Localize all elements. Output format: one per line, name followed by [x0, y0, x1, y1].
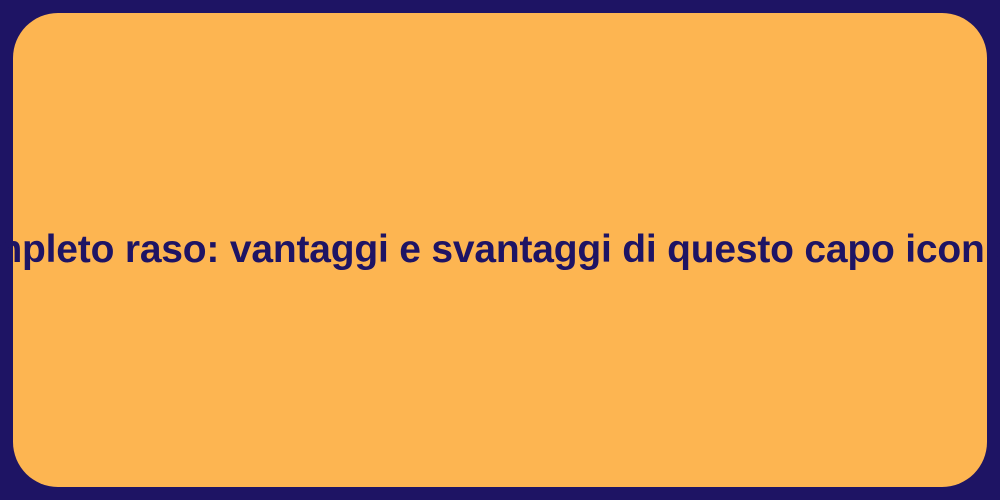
banner-frame: Completo raso: vantaggi e svantaggi di q…: [0, 0, 1000, 500]
page-title: Completo raso: vantaggi e svantaggi di q…: [0, 226, 1000, 275]
banner-panel: Completo raso: vantaggi e svantaggi di q…: [13, 13, 987, 487]
